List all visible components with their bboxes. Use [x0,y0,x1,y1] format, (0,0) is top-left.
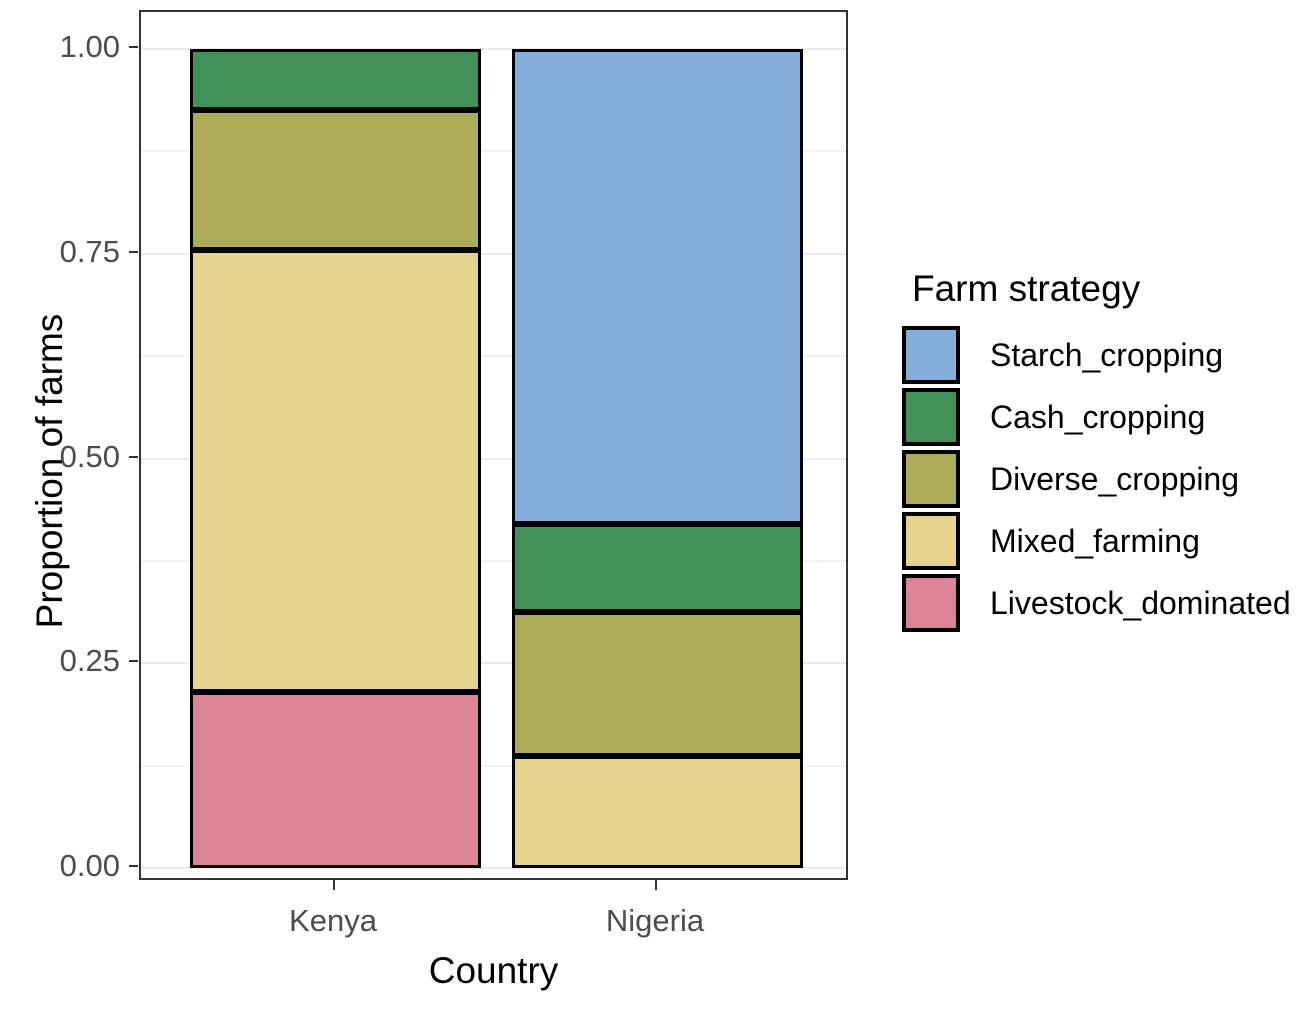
bar-segment-nigeria-mixed_farming [512,756,803,868]
y-tick-label: 1.00 [10,29,120,65]
bar-segment-nigeria-starch_cropping [512,49,803,524]
x-tick-label-kenya: Kenya [289,903,377,939]
legend-swatch-icon [902,326,960,384]
bar-segment-nigeria-diverse_cropping [512,612,803,756]
y-tick-mark [129,251,138,253]
bar-segment-kenya-livestock_dominated [190,692,481,868]
y-tick-label: 0.00 [10,848,120,884]
x-axis-title: Country [139,950,848,992]
x-tick-mark [333,880,335,890]
bar-stack-nigeria [512,12,803,880]
y-tick-mark [129,660,138,662]
legend-item-livestock_dominated[interactable]: Livestock_dominated [902,572,1298,634]
bar-segment-nigeria-cash_cropping [512,524,803,612]
y-tick-mark [129,865,138,867]
legend-title: Farm strategy [912,268,1298,310]
legend-item-label: Livestock_dominated [990,585,1291,622]
legend-item-label: Starch_cropping [990,337,1223,374]
y-tick-label: 0.25 [10,643,120,679]
y-tick-label: 0.75 [10,234,120,270]
plot-panel [139,10,848,880]
legend-items: Starch_croppingCash_croppingDiverse_crop… [902,324,1298,634]
x-tick-label-nigeria: Nigeria [606,903,704,939]
legend-item-diverse_cropping[interactable]: Diverse_cropping [902,448,1298,510]
legend-item-label: Diverse_cropping [990,461,1239,498]
y-tick-label: 0.50 [10,439,120,475]
bar-stack-kenya [190,12,481,880]
bar-segment-kenya-mixed_farming [190,250,481,692]
legend-swatch-icon [902,574,960,632]
legend-item-starch_cropping[interactable]: Starch_cropping [902,324,1298,386]
legend-swatch-icon [902,512,960,570]
legend: Farm strategy Starch_croppingCash_croppi… [902,268,1298,634]
y-tick-mark [129,46,138,48]
bar-segment-kenya-diverse_cropping [190,110,481,249]
x-tick-mark [655,880,657,890]
legend-item-label: Mixed_farming [990,523,1200,560]
stacked-bar-chart-figure: Proportion of farms 0.000.250.500.751.00… [0,0,1299,1019]
legend-swatch-icon [902,388,960,446]
legend-item-mixed_farming[interactable]: Mixed_farming [902,510,1298,572]
legend-swatch-icon [902,450,960,508]
bar-segment-kenya-cash_cropping [190,49,481,110]
legend-item-cash_cropping[interactable]: Cash_cropping [902,386,1298,448]
legend-item-label: Cash_cropping [990,399,1205,436]
y-tick-mark [129,456,138,458]
